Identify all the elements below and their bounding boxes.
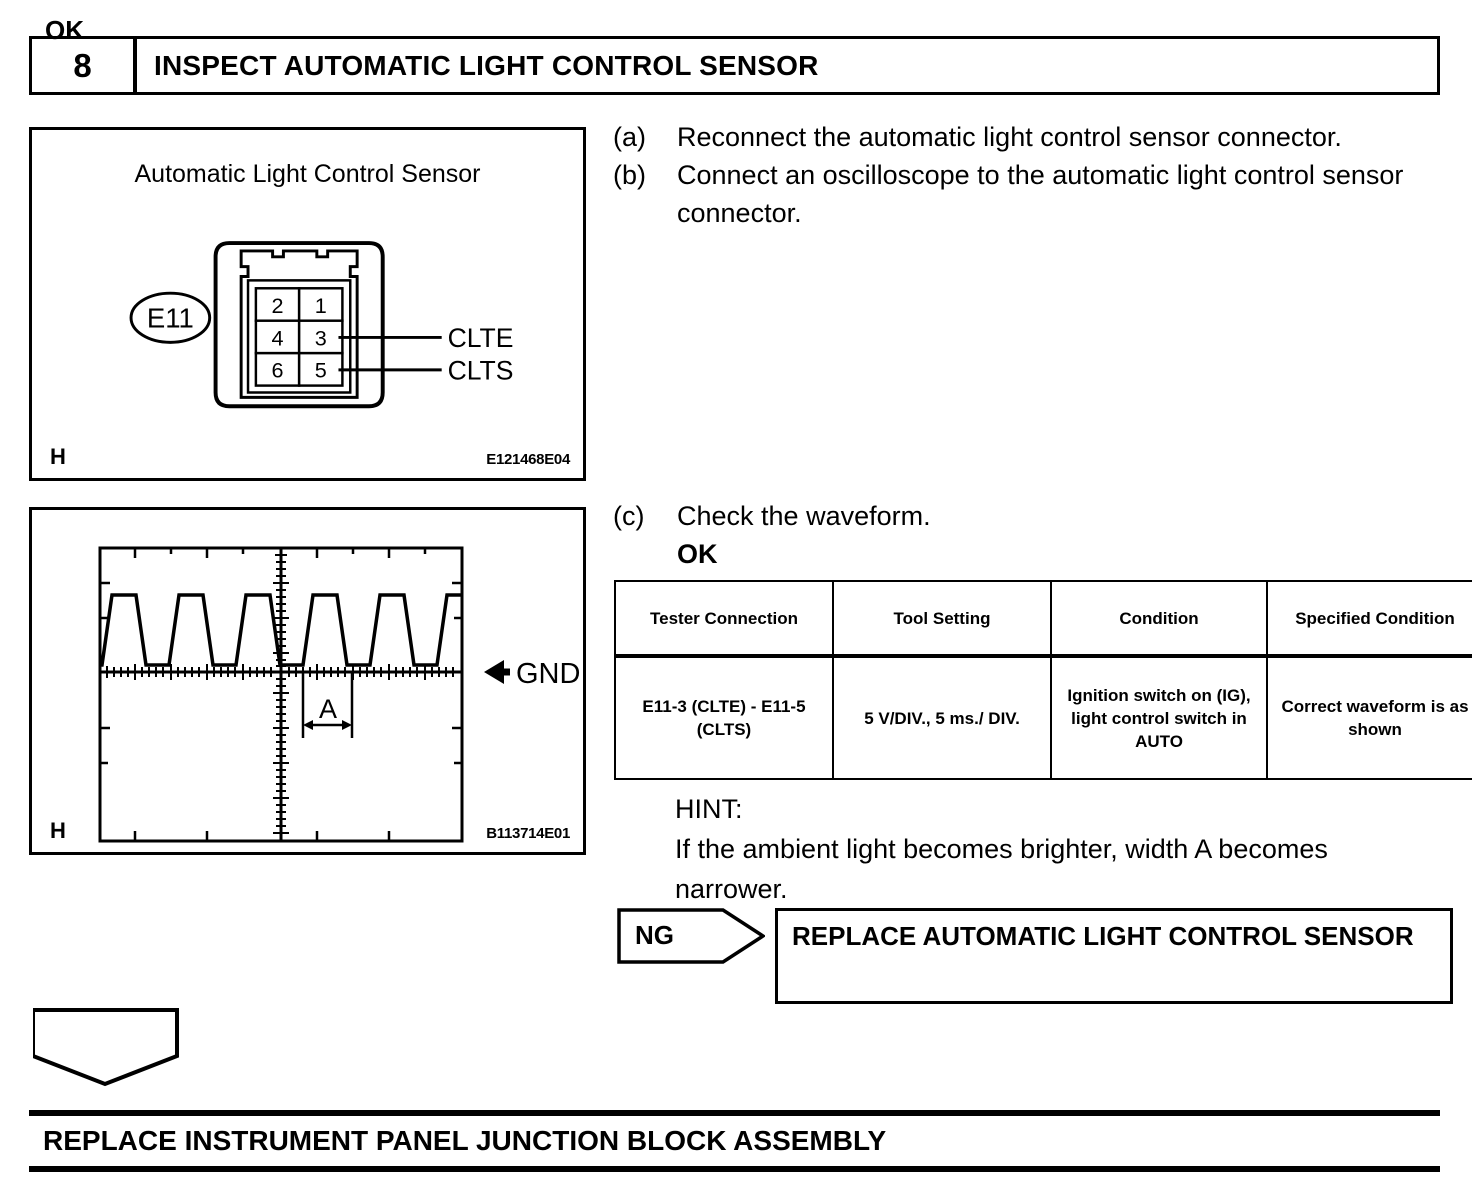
instruction-c-label: (c): [613, 497, 677, 535]
pin-grid: [256, 288, 343, 385]
final-action-banner: REPLACE INSTRUMENT PANEL JUNCTION BLOCK …: [29, 1110, 1440, 1172]
instruction-c-ok-word: OK: [677, 535, 1453, 573]
ok-tag-arrow: [33, 1008, 181, 1088]
waveform-figure-code: B113714E01: [486, 825, 570, 842]
connector-diagram: E11 2 1 4 3 6 5: [32, 130, 583, 478]
step-number: 8: [32, 39, 137, 92]
ng-branch: NG REPLACE AUTOMATIC LIGHT CONTROL SENSO…: [617, 908, 1453, 1004]
connector-id-oval: E11: [131, 293, 210, 342]
instruction-c-text: Check the waveform.: [677, 497, 1453, 535]
pin-label-1: 1: [315, 293, 327, 318]
header-condition: Condition: [1051, 581, 1267, 656]
instruction-b: (b) Connect an oscilloscope to the autom…: [613, 156, 1453, 232]
waveform-chart: A GND: [32, 510, 589, 858]
instruction-b-text: Connect an oscilloscope to the automatic…: [677, 156, 1453, 232]
table-header-row: Tester Connection Tool Setting Condition…: [615, 581, 1472, 656]
connector-orientation-mark: H: [50, 444, 66, 470]
ng-action-box: REPLACE AUTOMATIC LIGHT CONTROL SENSOR: [775, 908, 1453, 1004]
instruction-a-text: Reconnect the automatic light control se…: [677, 118, 1453, 156]
ng-tag-label: NG: [635, 920, 674, 951]
pin-label-2: 2: [272, 293, 284, 318]
pin-label-4: 4: [272, 325, 284, 350]
instruction-c: (c) Check the waveform.: [613, 497, 1453, 535]
header-tester-connection: Tester Connection: [615, 581, 833, 656]
waveform-figure-panel: A GND H B113714E01: [29, 507, 586, 855]
step-title: INSPECT AUTOMATIC LIGHT CONTROL SENSOR: [137, 39, 1437, 92]
pin-label-6: 6: [272, 358, 284, 383]
width-a-label: A: [319, 694, 337, 724]
waveform-orientation-mark: H: [50, 818, 66, 844]
instructions-ab: (a) Reconnect the automatic light contro…: [613, 118, 1453, 232]
ok-tag-label: OK: [45, 15, 84, 46]
connector-figure-code: E121468E04: [486, 451, 570, 468]
cell-tester-connection: E11-3 (CLTE) - E11-5 (CLTS): [615, 656, 833, 779]
header-specified-condition: Specified Condition: [1267, 581, 1472, 656]
pin-label-3: 3: [315, 325, 327, 350]
hint-text: If the ambient light becomes brighter, w…: [675, 829, 1445, 909]
cell-specified-condition: Correct waveform is as shown: [1267, 656, 1472, 779]
header-tool-setting: Tool Setting: [833, 581, 1051, 656]
gnd-label: GND: [516, 658, 580, 690]
leader-label-clts: CLTS: [448, 356, 514, 386]
table-row: E11-3 (CLTE) - E11-5 (CLTS) 5 V/DIV., 5 …: [615, 656, 1472, 779]
specification-table: Tester Connection Tool Setting Condition…: [614, 580, 1472, 780]
instructions-c: (c) Check the waveform. OK: [613, 497, 1453, 573]
connector-id-label: E11: [147, 303, 194, 334]
cell-tool-setting: 5 V/DIV., 5 ms./ DIV.: [833, 656, 1051, 779]
gnd-indicator: GND: [484, 658, 580, 690]
cell-condition: Ignition switch on (IG), light control s…: [1051, 656, 1267, 779]
leader-label-clte: CLTE: [448, 323, 514, 353]
hint-title: HINT:: [675, 789, 1445, 829]
instruction-a: (a) Reconnect the automatic light contro…: [613, 118, 1453, 156]
pin-label-5: 5: [315, 358, 327, 383]
hint-block: HINT: If the ambient light becomes brigh…: [675, 789, 1445, 909]
instruction-b-label: (b): [613, 156, 677, 194]
connector-figure-panel: Automatic Light Control Sensor E11 2 1: [29, 127, 586, 481]
instruction-a-label: (a): [613, 118, 677, 156]
step-header: 8 INSPECT AUTOMATIC LIGHT CONTROL SENSOR: [29, 36, 1440, 95]
